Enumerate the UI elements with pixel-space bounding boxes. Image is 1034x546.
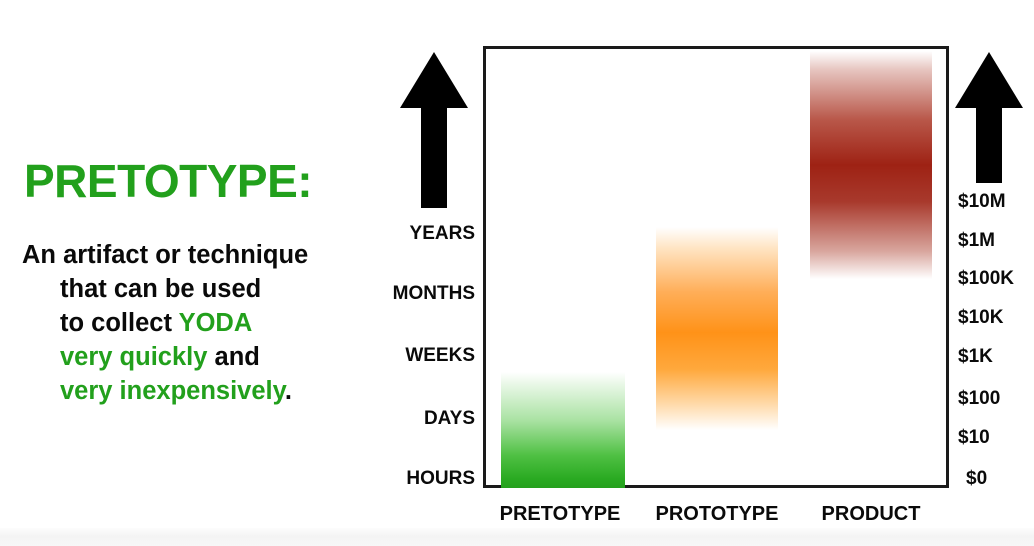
bar-product xyxy=(810,51,932,279)
cost-tick-10m: $10M xyxy=(958,192,1006,211)
very-inexpensively-highlight: very inexpensively xyxy=(60,377,285,405)
definition-line-2-text: that can be used xyxy=(60,275,261,303)
chart-plot-area xyxy=(483,46,949,488)
definition-line-4: very quickly and xyxy=(22,340,382,374)
definition-text: An artifact or technique that can be use… xyxy=(22,238,382,408)
cost-axis: $10M $1M $100K $10K $1K $100 $10 $0 xyxy=(958,0,1034,546)
page-title: PRETOTYPE: xyxy=(24,158,312,204)
category-label-product: PRODUCT xyxy=(791,504,951,524)
time-tick-years: YEARS xyxy=(410,224,475,243)
time-tick-months: MONTHS xyxy=(393,284,475,303)
definition-line-1-text: An artifact or technique xyxy=(22,241,308,269)
definition-line-2: that can be used xyxy=(22,272,382,306)
definition-line-5: very inexpensively. xyxy=(22,374,382,408)
time-tick-hours: HOURS xyxy=(406,469,475,488)
yoda-highlight: YODA xyxy=(179,309,253,337)
cost-tick-10: $10 xyxy=(958,428,990,447)
definition-line-3-text: to collect xyxy=(60,309,179,337)
definition-line-3: to collect YODA xyxy=(22,306,382,340)
cost-tick-100: $100 xyxy=(958,389,1000,408)
very-quickly-highlight: very quickly xyxy=(60,343,207,371)
category-label-prototype: PROTOTYPE xyxy=(637,504,797,524)
time-axis: YEARS MONTHS WEEKS DAYS HOURS xyxy=(330,0,475,546)
bottom-edge-strip xyxy=(0,528,1034,546)
cost-tick-10k: $10K xyxy=(958,308,1003,327)
bar-prototype xyxy=(656,227,778,430)
time-tick-days: DAYS xyxy=(424,409,475,428)
cost-tick-100k: $100K xyxy=(958,269,1014,288)
definition-line-1: An artifact or technique xyxy=(22,238,382,272)
cost-tick-1k: $1K xyxy=(958,347,993,366)
cost-tick-1m: $1M xyxy=(958,231,995,250)
bar-pretotype xyxy=(501,372,625,488)
category-label-pretotype: PRETOTYPE xyxy=(480,504,640,524)
cost-tick-0: $0 xyxy=(966,469,987,488)
time-tick-weeks: WEEKS xyxy=(405,346,475,365)
definition-line-4-tail: and xyxy=(207,343,259,371)
infographic-canvas: PRETOTYPE: An artifact or technique that… xyxy=(0,0,1034,546)
definition-line-5-period: . xyxy=(285,377,292,405)
